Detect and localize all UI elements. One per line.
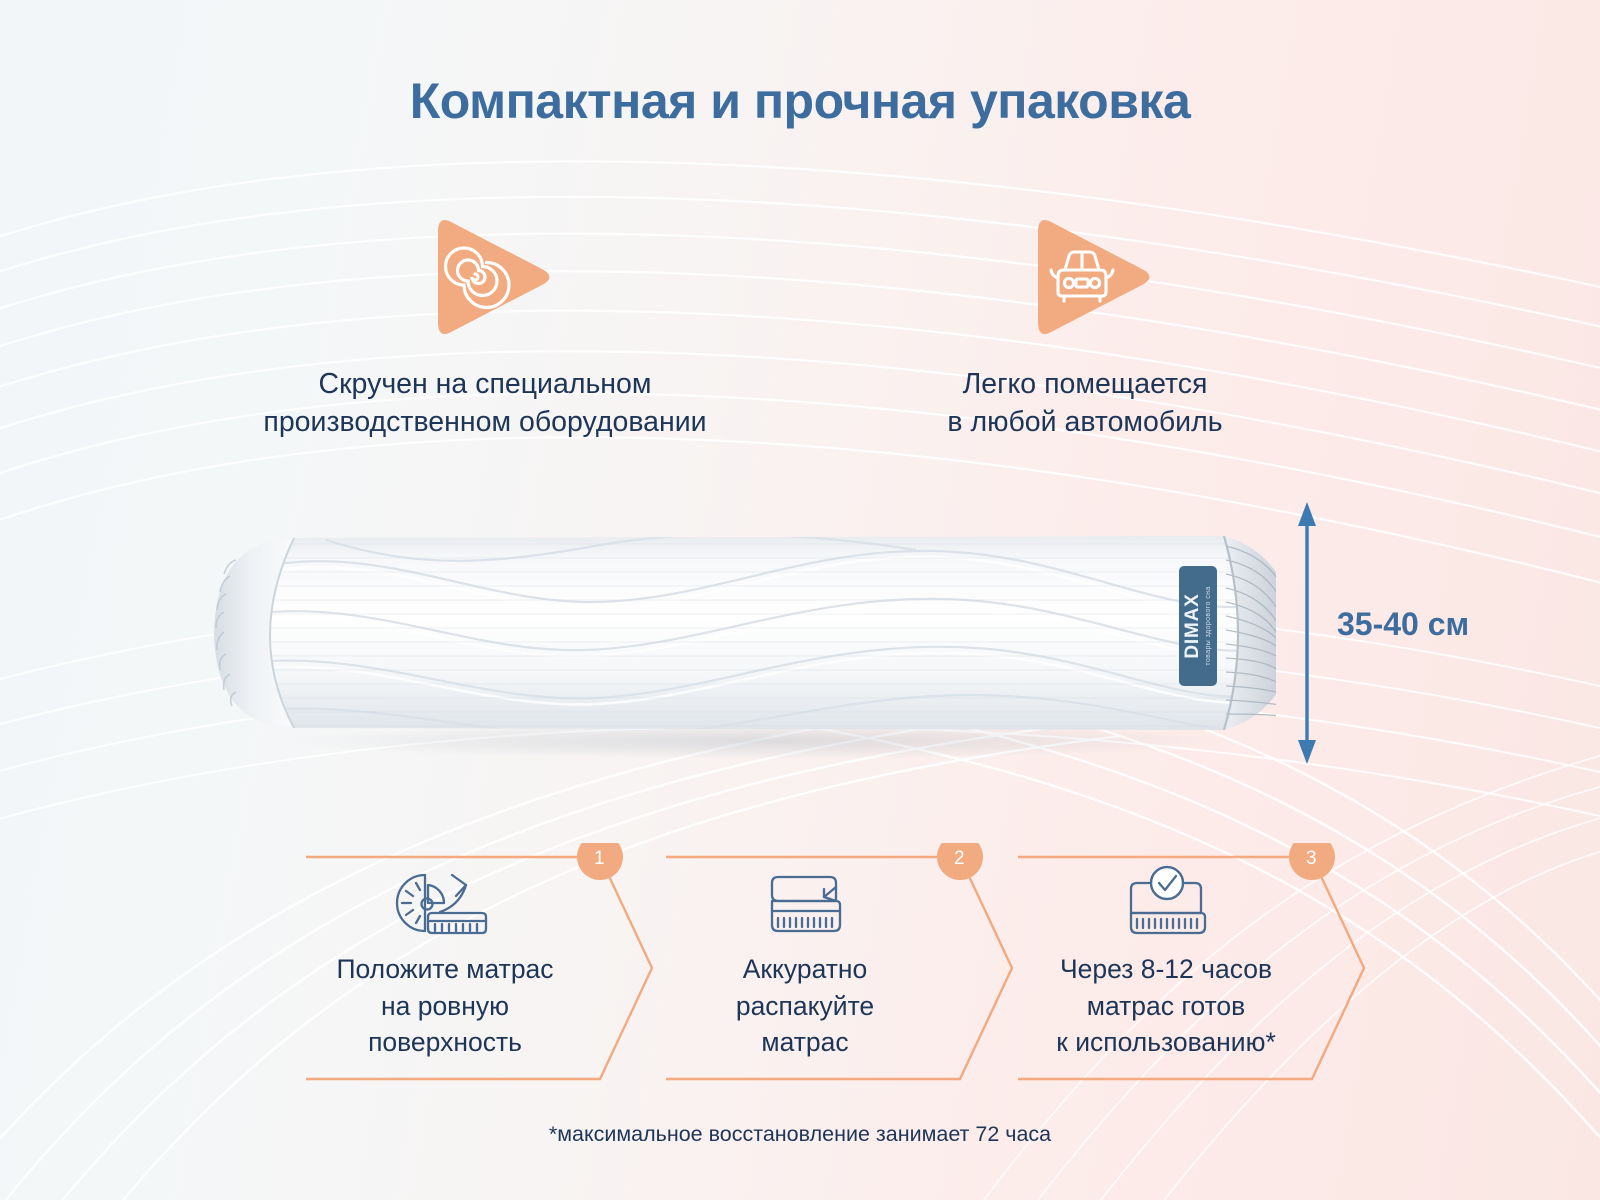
unrolling-mattress-icon bbox=[390, 863, 500, 943]
unrolling-mattress-icon-wrap bbox=[300, 863, 590, 948]
step-number-badge: 1 bbox=[594, 848, 605, 870]
dimension-label: 35-40 см bbox=[1337, 606, 1469, 643]
brand-tag-subtitle: товары здорового сна bbox=[1205, 586, 1212, 665]
feature-rolled-on-equipment: Скручен на специальном производственном … bbox=[195, 200, 775, 441]
rolled-mattress-image: DIMAX товары здорового сна bbox=[176, 498, 1276, 768]
step-card-2: 2 Аккуратно распакуйте матрас bbox=[660, 843, 1020, 1093]
feature-fits-any-car: Легко помещается в любой автомобиль bbox=[885, 200, 1285, 441]
step-number-badge: 2 bbox=[954, 848, 965, 870]
spiral-roll-icon-badge bbox=[410, 200, 560, 350]
step-card-1: 1 Положите матрас на ровную поверхность bbox=[300, 843, 660, 1093]
step-text: Положите матрас на ровную поверхность bbox=[300, 951, 590, 1061]
feature-caption: Легко помещается в любой автомобиль bbox=[885, 366, 1285, 441]
step-text: Через 8-12 часов матрас готов к использо… bbox=[1016, 951, 1316, 1061]
mattress-check-icon-wrap bbox=[1016, 863, 1316, 948]
unwrap-mattress-icon bbox=[750, 863, 860, 943]
mattress-check-icon bbox=[1111, 863, 1221, 943]
dimension-indicator: 35-40 см bbox=[1285, 498, 1585, 768]
car-icon bbox=[1010, 200, 1160, 350]
unwrap-mattress-icon-wrap bbox=[660, 863, 950, 948]
brand-tag-name: DIMAX bbox=[1182, 593, 1203, 658]
step-card-3: 3 Через 8-12 часов матрас готов к исполь… bbox=[1012, 843, 1372, 1093]
infographic-canvas: Компактная и прочная упаковка Скручен на… bbox=[0, 0, 1600, 1200]
page-title: Компактная и прочная упаковка bbox=[0, 72, 1600, 130]
step-text: Аккуратно распакуйте матрас bbox=[660, 951, 950, 1061]
brand-tag: DIMAX товары здорового сна bbox=[1179, 566, 1217, 686]
spiral-roll-icon bbox=[410, 200, 560, 350]
car-icon-badge bbox=[1010, 200, 1160, 350]
footnote: *максимальное восстановление занимает 72… bbox=[0, 1122, 1600, 1147]
feature-caption: Скручен на специальном производственном … bbox=[195, 366, 775, 441]
